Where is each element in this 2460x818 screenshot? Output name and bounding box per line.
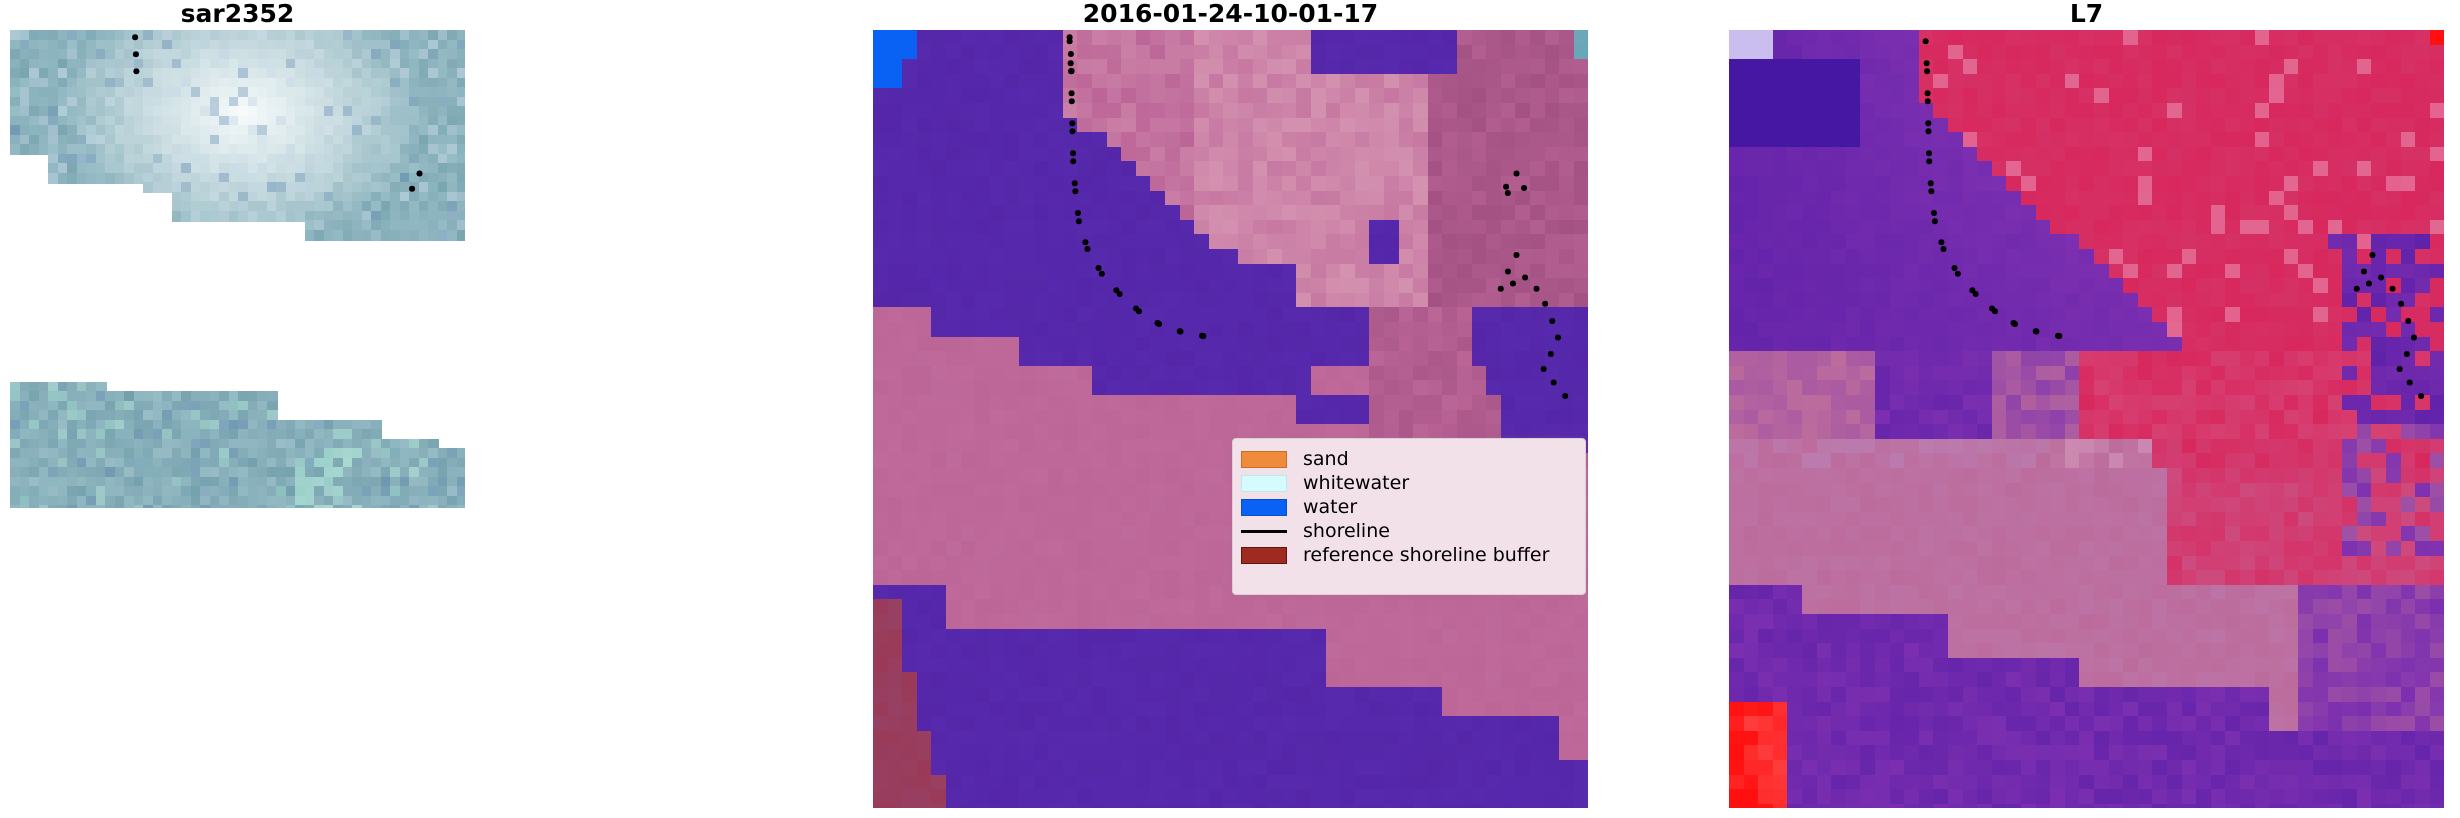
- image-l7: [1729, 30, 2444, 808]
- legend-swatch-icon: [1241, 547, 1287, 564]
- figure-root: sar2352 2016-01-24-10-01-17 L7 sandwhite…: [0, 0, 2460, 818]
- legend-swatch-icon: [1241, 475, 1287, 492]
- image-classification: [873, 30, 1588, 808]
- panel-title-sar2352: sar2352: [10, 0, 465, 30]
- legend: sandwhitewaterwatershorelinereference sh…: [1232, 438, 1586, 595]
- image-sar2352: [10, 30, 465, 508]
- panel-classification: 2016-01-24-10-01-17: [873, 0, 1588, 818]
- legend-item-label: whitewater: [1303, 472, 1409, 494]
- legend-item-water: water: [1241, 495, 1575, 519]
- panel-l7: L7: [1729, 0, 2444, 818]
- legend-item-whitewater: whitewater: [1241, 471, 1575, 495]
- legend-swatch-icon: [1241, 523, 1287, 540]
- legend-item-label: water: [1303, 496, 1357, 518]
- panel-sar2352: sar2352: [10, 0, 465, 818]
- legend-item-reference-shoreline-buffer: reference shoreline buffer: [1241, 543, 1575, 567]
- legend-swatch-icon: [1241, 499, 1287, 516]
- legend-item-label: reference shoreline buffer: [1303, 544, 1549, 566]
- legend-item-shoreline: shoreline: [1241, 519, 1575, 543]
- legend-item-sand: sand: [1241, 447, 1575, 471]
- panel-title-classification: 2016-01-24-10-01-17: [873, 0, 1588, 30]
- legend-item-label: shoreline: [1303, 520, 1390, 542]
- legend-item-label: sand: [1303, 448, 1349, 470]
- legend-swatch-icon: [1241, 451, 1287, 468]
- panel-title-l7: L7: [1729, 0, 2444, 30]
